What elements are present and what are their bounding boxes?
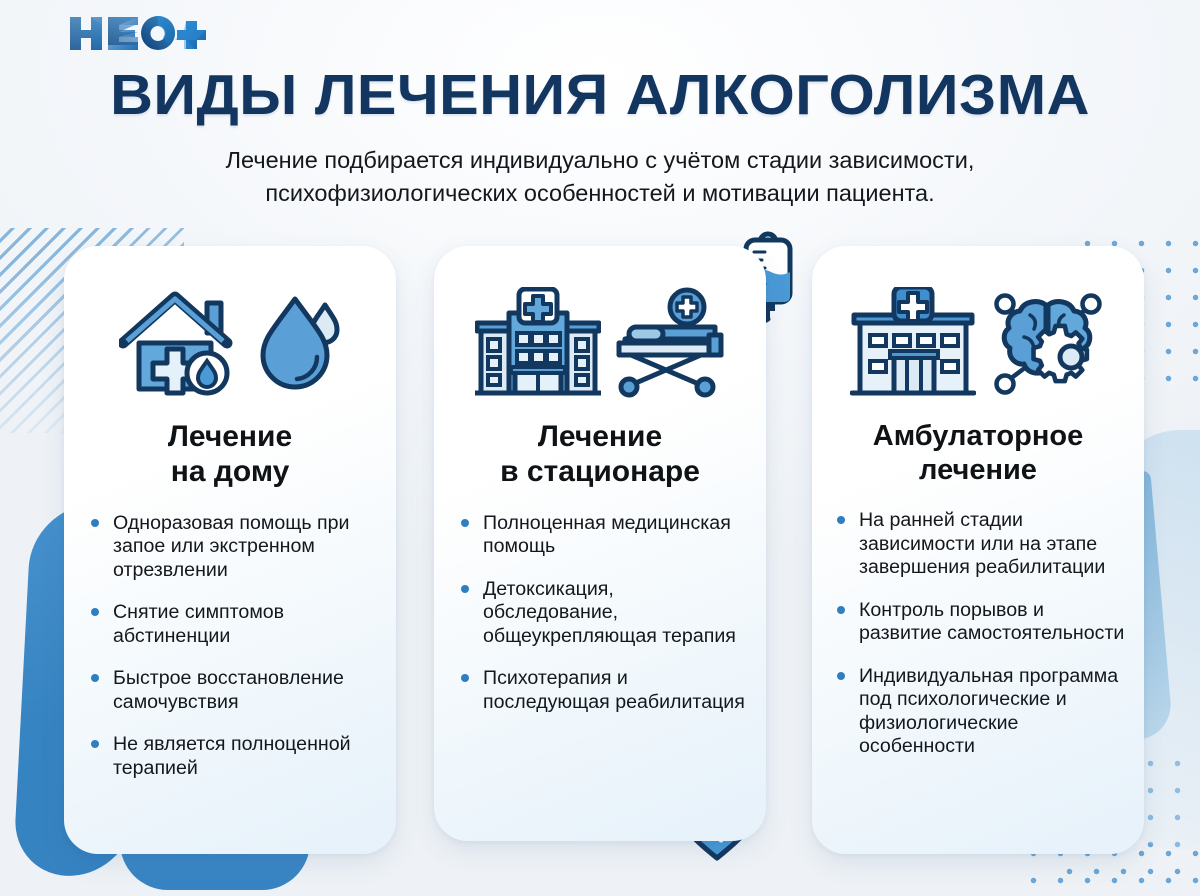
infographic-canvas: ВИДЫ ЛЕЧЕНИЯ АЛКОГОЛИЗМА Лечение подбира… [0,0,1200,896]
card-2-title: Лечение в стационаре [434,420,766,490]
card-2-title-line-1: Лечение [450,420,750,455]
list-item: Контроль порывов и развитие самостоятель… [836,599,1132,646]
hospital-building-icon [475,287,601,404]
subtitle-line-1: Лечение подбирается индивидуально с учёт… [90,144,1110,177]
card-inpatient-treatment[interactable]: Лечение в стационаре Полноценная медицин… [434,246,766,841]
card-1-title: Лечение на дому [64,420,396,490]
card-3-bullets: На ранней стадии зависимости или на этап… [812,509,1144,759]
card-3-title-line-1: Амбулаторное [828,420,1128,454]
card-2-title-line-2: в стационаре [450,455,750,490]
list-item: Быстрое восстановление самочувствия [90,667,386,714]
list-item: Одноразовая помощь при запое или экстрен… [90,512,386,583]
list-item: Не является полноценной терапией [90,733,386,780]
list-item: Индивидуальная программа под психологиче… [836,665,1132,759]
card-2-bullets: Полноценная медицинская помощь Детоксика… [434,512,766,715]
card-home-treatment[interactable]: Лечение на дому Одноразовая помощь при з… [64,246,396,854]
card-3-title-line-2: лечение [828,454,1128,488]
page-subtitle: Лечение подбирается индивидуально с учёт… [90,144,1110,211]
brain-gear-icon [990,287,1106,404]
list-item: Психотерапия и последующая реабилитация [460,667,746,714]
card-1-icons [64,246,396,410]
card-2-icons [434,246,766,410]
home-medical-icon [119,287,241,404]
card-3-title: Амбулаторное лечение [812,420,1144,487]
list-item: Снятие симптомов абстиненции [90,601,386,648]
hospital-bed-icon [615,287,725,404]
water-drop-icon [255,291,341,400]
list-item: Полноценная медицинская помощь [460,512,746,559]
list-item: На ранней стадии зависимости или на этап… [836,509,1132,580]
card-1-title-line-1: Лечение [80,420,380,455]
page-title: ВИДЫ ЛЕЧЕНИЯ АЛКОГОЛИЗМА [0,62,1200,128]
card-outpatient-treatment[interactable]: Амбулаторное лечение На ранней стадии за… [812,246,1144,854]
subtitle-line-2: психофизиологических особенностей и моти… [90,177,1110,210]
card-1-bullets: Одноразовая помощь при запое или экстрен… [64,512,396,781]
card-1-title-line-2: на дому [80,455,380,490]
list-item: Детоксикация, обследование, общеукрепляю… [460,578,746,649]
neo-plus-logo [68,14,218,56]
card-3-icons [812,246,1144,410]
treatment-cards: Лечение на дому Одноразовая помощь при з… [0,246,1200,866]
clinic-building-icon [850,287,976,404]
